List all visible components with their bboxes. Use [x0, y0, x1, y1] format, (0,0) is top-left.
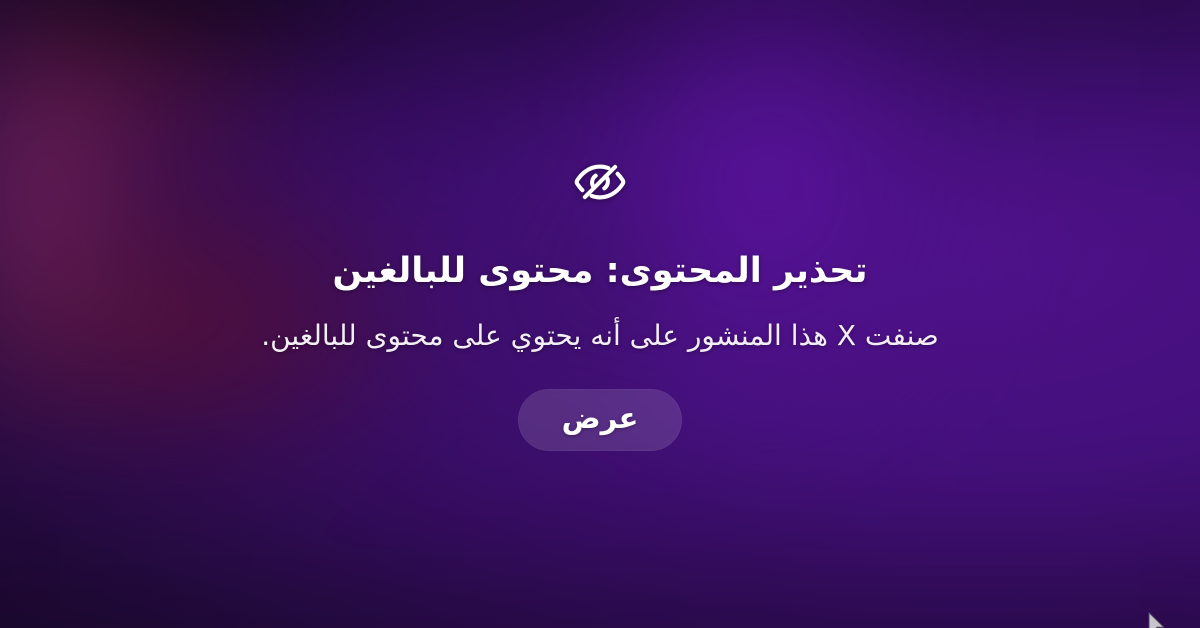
content-warning-panel: تحذير المحتوى: محتوى للبالغين صنفت X هذا… [0, 0, 1200, 628]
content-warning-title: تحذير المحتوى: محتوى للبالغين [333, 251, 868, 292]
view-button[interactable]: عرض [518, 389, 683, 451]
content-warning-description: صنفت X هذا المنشور على أنه يحتوي على محت… [261, 318, 939, 354]
sensitive-media-warning-screen: تحذير المحتوى: محتوى للبالغين صنفت X هذا… [0, 0, 1200, 628]
eye-off-icon [571, 153, 629, 211]
